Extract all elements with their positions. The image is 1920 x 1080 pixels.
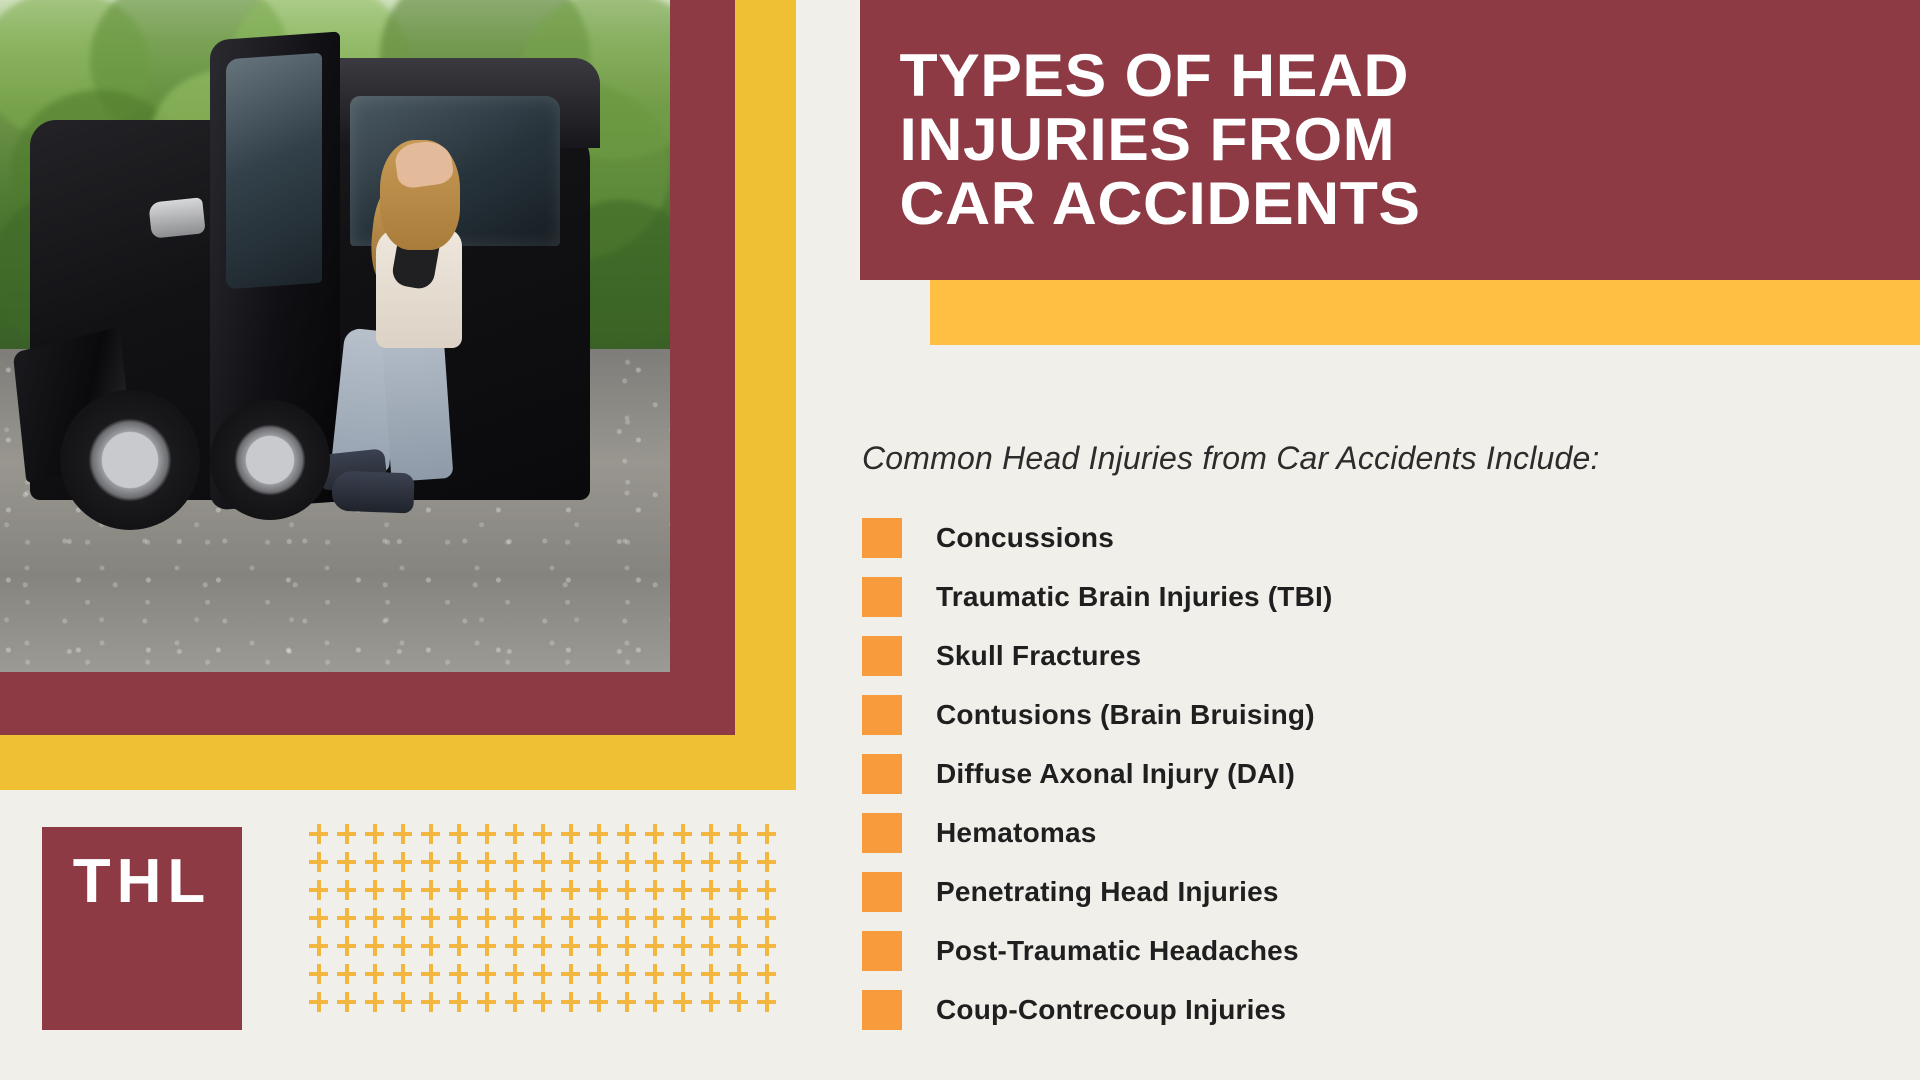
bullet-square-icon xyxy=(862,695,902,735)
list-item: Penetrating Head Injuries xyxy=(862,862,1842,921)
plus-icon xyxy=(698,822,726,850)
plus-icon xyxy=(614,822,642,850)
plus-icon xyxy=(530,962,558,990)
plus-icon xyxy=(334,822,362,850)
plus-icon xyxy=(558,822,586,850)
plus-icon xyxy=(502,962,530,990)
plus-icon xyxy=(502,934,530,962)
plus-icon xyxy=(754,962,782,990)
list-item-label: Hematomas xyxy=(936,817,1097,849)
plus-icon xyxy=(670,990,698,1018)
list-item: Skull Fractures xyxy=(862,626,1842,685)
plus-icon xyxy=(306,850,334,878)
plus-icon xyxy=(614,990,642,1018)
plus-icon xyxy=(614,850,642,878)
plus-icon xyxy=(614,878,642,906)
plus-icon xyxy=(446,822,474,850)
plus-icon xyxy=(558,878,586,906)
plus-icon xyxy=(726,822,754,850)
plus-icon xyxy=(362,850,390,878)
list-item-label: Penetrating Head Injuries xyxy=(936,876,1279,908)
plus-icon xyxy=(698,934,726,962)
plus-icon xyxy=(418,990,446,1018)
plus-icon xyxy=(390,878,418,906)
plus-icon xyxy=(502,906,530,934)
title-banner: TYPES OF HEAD INJURIES FROM CAR ACCIDENT… xyxy=(860,0,1920,280)
plus-icon xyxy=(670,934,698,962)
list-item: Diffuse Axonal Injury (DAI) xyxy=(862,744,1842,803)
plus-icon xyxy=(334,850,362,878)
list-item: Contusions (Brain Bruising) xyxy=(862,685,1842,744)
bullet-square-icon xyxy=(862,990,902,1030)
plus-icon xyxy=(362,990,390,1018)
plus-icon xyxy=(614,962,642,990)
plus-icon xyxy=(474,822,502,850)
plus-icon xyxy=(334,878,362,906)
list-item: Concussions xyxy=(862,508,1842,567)
bullet-square-icon xyxy=(862,577,902,617)
plus-icon xyxy=(670,906,698,934)
plus-icon xyxy=(586,990,614,1018)
list-item-label: Coup-Contrecoup Injuries xyxy=(936,994,1286,1026)
plus-icon xyxy=(558,962,586,990)
plus-icon xyxy=(474,934,502,962)
list-item-label: Contusions (Brain Bruising) xyxy=(936,699,1315,731)
plus-icon xyxy=(474,990,502,1018)
plus-icon xyxy=(474,962,502,990)
plus-icon xyxy=(558,906,586,934)
plus-icon xyxy=(306,822,334,850)
plus-icon xyxy=(390,962,418,990)
plus-icon xyxy=(754,906,782,934)
subhead: Common Head Injuries from Car Accidents … xyxy=(862,440,1600,477)
bullet-square-icon xyxy=(862,872,902,912)
accident-photo xyxy=(0,0,670,672)
plus-icon xyxy=(670,822,698,850)
plus-icon xyxy=(530,906,558,934)
plus-icon xyxy=(530,850,558,878)
plus-icon xyxy=(586,934,614,962)
plus-icon xyxy=(502,878,530,906)
plus-icon xyxy=(670,850,698,878)
logo-box: THL xyxy=(42,827,242,1030)
plus-icon xyxy=(614,934,642,962)
plus-icon xyxy=(390,822,418,850)
plus-icon xyxy=(306,906,334,934)
plus-icon xyxy=(306,934,334,962)
plus-icon xyxy=(642,822,670,850)
plus-icon xyxy=(698,906,726,934)
plus-icon xyxy=(362,822,390,850)
plus-icon xyxy=(586,850,614,878)
plus-icon xyxy=(726,962,754,990)
injury-list: Concussions Traumatic Brain Injuries (TB… xyxy=(862,508,1842,1039)
plus-icon xyxy=(502,822,530,850)
bullet-square-icon xyxy=(862,813,902,853)
plus-icon xyxy=(446,850,474,878)
plus-icon xyxy=(754,850,782,878)
plus-icon xyxy=(306,878,334,906)
accident-photo-scene xyxy=(0,0,670,672)
plus-icon xyxy=(586,906,614,934)
plus-icon xyxy=(306,990,334,1018)
plus-icon xyxy=(726,990,754,1018)
plus-icon xyxy=(390,990,418,1018)
bullet-square-icon xyxy=(862,931,902,971)
plus-icon xyxy=(390,850,418,878)
list-item-label: Diffuse Axonal Injury (DAI) xyxy=(936,758,1295,790)
plus-icon xyxy=(334,934,362,962)
plus-icon xyxy=(474,906,502,934)
bullet-square-icon xyxy=(862,754,902,794)
plus-pattern-decoration xyxy=(306,822,782,1018)
plus-icon xyxy=(726,906,754,934)
plus-icon xyxy=(698,962,726,990)
car-wheel-rear xyxy=(210,400,330,520)
plus-icon xyxy=(558,990,586,1018)
plus-icon xyxy=(754,878,782,906)
plus-icon xyxy=(586,962,614,990)
plus-icon xyxy=(642,962,670,990)
title-accent-bar xyxy=(930,280,1920,345)
plus-icon xyxy=(642,850,670,878)
plus-icon xyxy=(362,962,390,990)
plus-icon xyxy=(362,934,390,962)
list-item-label: Skull Fractures xyxy=(936,640,1141,672)
plus-icon xyxy=(670,878,698,906)
car-wheel-front xyxy=(60,390,200,530)
plus-icon xyxy=(586,822,614,850)
list-item-label: Post-Traumatic Headaches xyxy=(936,935,1299,967)
plus-icon xyxy=(558,934,586,962)
plus-icon xyxy=(446,906,474,934)
plus-icon xyxy=(390,934,418,962)
plus-icon xyxy=(726,934,754,962)
plus-icon xyxy=(334,990,362,1018)
plus-icon xyxy=(418,906,446,934)
plus-icon xyxy=(474,850,502,878)
plus-icon xyxy=(446,990,474,1018)
plus-icon xyxy=(418,962,446,990)
plus-icon xyxy=(474,878,502,906)
plus-icon xyxy=(726,878,754,906)
plus-icon xyxy=(334,962,362,990)
plus-icon xyxy=(754,822,782,850)
plus-icon xyxy=(586,878,614,906)
car-door-glass xyxy=(226,53,322,290)
plus-icon xyxy=(446,934,474,962)
plus-icon xyxy=(642,934,670,962)
plus-icon xyxy=(418,878,446,906)
plus-icon xyxy=(446,878,474,906)
plus-icon xyxy=(530,934,558,962)
list-item-label: Concussions xyxy=(936,522,1114,554)
logo-text: THL xyxy=(73,851,212,913)
bullet-square-icon xyxy=(862,518,902,558)
plus-icon xyxy=(530,878,558,906)
bullet-square-icon xyxy=(862,636,902,676)
woman-shoe-right xyxy=(331,471,414,514)
list-item: Hematomas xyxy=(862,803,1842,862)
plus-icon xyxy=(362,906,390,934)
plus-icon xyxy=(530,990,558,1018)
plus-icon xyxy=(754,934,782,962)
side-mirror xyxy=(148,197,205,238)
list-item-label: Traumatic Brain Injuries (TBI) xyxy=(936,581,1333,613)
plus-icon xyxy=(446,962,474,990)
plus-icon xyxy=(334,906,362,934)
plus-icon xyxy=(362,878,390,906)
plus-icon xyxy=(558,850,586,878)
list-item: Traumatic Brain Injuries (TBI) xyxy=(862,567,1842,626)
plus-icon xyxy=(614,906,642,934)
plus-icon xyxy=(670,962,698,990)
plus-icon xyxy=(642,990,670,1018)
plus-icon xyxy=(698,990,726,1018)
plus-icon xyxy=(502,850,530,878)
list-item: Coup-Contrecoup Injuries xyxy=(862,980,1842,1039)
plus-icon xyxy=(418,850,446,878)
page-title: TYPES OF HEAD INJURIES FROM CAR ACCIDENT… xyxy=(860,44,1421,237)
plus-icon xyxy=(698,878,726,906)
plus-icon xyxy=(390,906,418,934)
plus-icon xyxy=(418,822,446,850)
plus-icon xyxy=(306,962,334,990)
plus-icon xyxy=(726,850,754,878)
plus-icon xyxy=(642,878,670,906)
plus-icon xyxy=(530,822,558,850)
plus-icon xyxy=(754,990,782,1018)
plus-icon xyxy=(698,850,726,878)
left-visual-composition xyxy=(0,0,800,800)
plus-icon xyxy=(642,906,670,934)
plus-icon xyxy=(502,990,530,1018)
list-item: Post-Traumatic Headaches xyxy=(862,921,1842,980)
plus-icon xyxy=(418,934,446,962)
